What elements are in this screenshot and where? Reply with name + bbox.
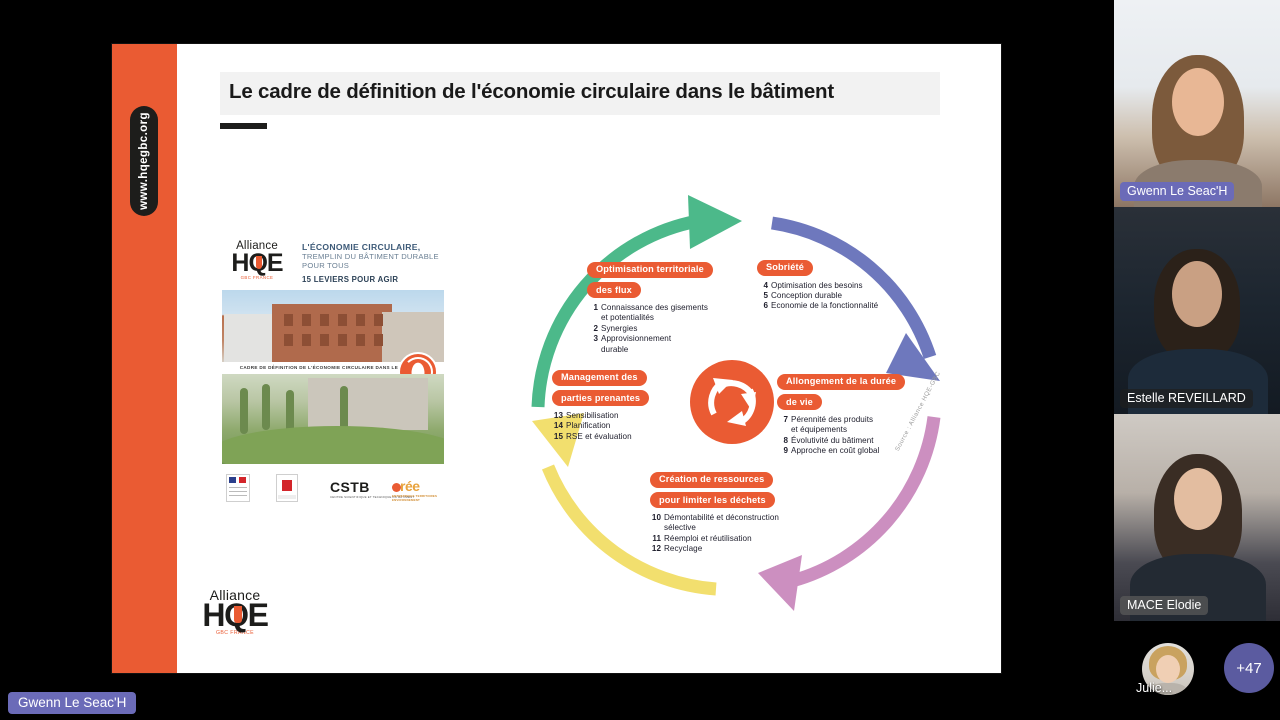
block-pill-line1: Allongement de la durée: [777, 374, 905, 390]
block-pill-line1: Management des: [552, 370, 647, 386]
list-item: 2Synergies: [587, 324, 767, 334]
item-continuation: et équipements: [791, 425, 962, 435]
item-number: 1: [587, 303, 598, 313]
video-tile-estelle[interactable]: Estelle REVEILLARD: [1114, 207, 1280, 414]
item-text: Évolutivité du bâtiment: [791, 436, 874, 446]
slide-title-band: Le cadre de définition de l'économie cir…: [220, 72, 940, 115]
block-pill-line1: Création de ressources: [650, 472, 773, 488]
photo-garden-lawn: [222, 426, 444, 464]
screen-share-stage: www.hqegbc.org Le cadre de définition de…: [0, 0, 1114, 720]
item-number: 14: [552, 421, 563, 431]
ademe-logo: [276, 474, 298, 502]
list-item: 4Optimisation des besoins: [757, 281, 937, 291]
list-item: 8Évolutivité du bâtiment: [777, 436, 962, 446]
circular-economy-diagram: Optimisation territoriale des flux 1Conn…: [502, 149, 972, 649]
center-recycling-badge: [690, 360, 774, 444]
video-tile-mace[interactable]: MACE Elodie: [1114, 414, 1280, 621]
list-item: 11Réemploi et réutilisation: [650, 534, 850, 544]
item-number: 6: [757, 301, 768, 311]
item-number: 5: [757, 291, 768, 301]
item-number: 2: [587, 324, 598, 334]
cover-header: Alliance HQE GBC FRANCE L'ÉCONOMIE CIRCU…: [220, 240, 448, 282]
partner-logos-row: CSTB CENTRE SCIENTIFIQUE ET TECHNIQUE DU…: [220, 472, 448, 504]
overflow-avatar-name: Julie...: [1136, 681, 1206, 695]
logo-hqe-text: HQE: [220, 252, 294, 275]
list-item: 10Démontabilité et déconstruction: [650, 513, 850, 523]
participant-rail: Gwenn Le Seac'H Estelle REVEILLARD MACE …: [1114, 0, 1280, 720]
participant-name: Gwenn Le Seac'H: [1120, 182, 1234, 201]
avatar-face: [1172, 261, 1222, 327]
block-sobriete: Sobriété 4Optimisation des besoins 5Conc…: [757, 257, 937, 312]
cstb-label: CSTB: [330, 479, 370, 495]
block-pill-line1: Optimisation territoriale: [587, 262, 713, 278]
item-text: Recyclage: [664, 544, 702, 554]
item-text: Approvisionnement: [601, 334, 671, 344]
block-pill-line1: Sobriété: [757, 260, 813, 276]
item-continuation: durable: [601, 345, 767, 355]
avatar-face: [1174, 468, 1222, 530]
participant-name: MACE Elodie: [1120, 596, 1208, 615]
item-text: Démontabilité et déconstruction: [664, 513, 779, 523]
item-text: Economie de la fonctionnalité: [771, 301, 878, 311]
item-text: Synergies: [601, 324, 637, 334]
overflow-participants: Julie... +47: [1114, 621, 1280, 720]
avatar-face: [1156, 655, 1180, 683]
cover-tagline-group: L'ÉCONOMIE CIRCULAIRE, TREMPLIN DU BÂTIM…: [302, 242, 448, 284]
oree-label: rée: [400, 478, 420, 494]
list-item: 7Pérennité des produits: [777, 415, 962, 425]
block-items: 1Connaissance des gisements et potential…: [587, 303, 767, 355]
item-number: 10: [650, 513, 661, 523]
photo-building-left: [224, 314, 274, 362]
item-text: Sensibilisation: [566, 411, 619, 421]
item-number: 13: [552, 411, 563, 421]
block-pill-line2: parties prenantes: [552, 390, 649, 406]
avatar-face: [1172, 68, 1224, 136]
item-text: Approche en coût global: [791, 446, 879, 456]
alliance-hqe-logo: Alliance HQE GBC FRANCE: [220, 240, 294, 281]
participant-name: Estelle REVEILLARD: [1120, 389, 1253, 408]
list-item: 1Connaissance des gisements: [587, 303, 767, 313]
block-items: 10Démontabilité et déconstruction sélect…: [650, 513, 850, 555]
item-number: 8: [777, 436, 788, 446]
list-item: 15RSE et évaluation: [552, 432, 702, 442]
block-items: 13Sensibilisation 14Planification 15RSE …: [552, 411, 702, 442]
recycling-icon: [690, 360, 774, 444]
block-items: 4Optimisation des besoins 5Conception du…: [757, 281, 937, 312]
book-cover-block: Alliance HQE GBC FRANCE L'ÉCONOMIE CIRCU…: [220, 240, 448, 540]
block-pill-line2: pour limiter les déchets: [650, 492, 775, 508]
block-management-parties-prenantes: Management des parties prenantes 13Sensi…: [552, 367, 702, 442]
list-item: 12Recyclage: [650, 544, 850, 554]
item-number: 9: [777, 446, 788, 456]
photo-building-main: [272, 304, 392, 362]
item-text: Planification: [566, 421, 610, 431]
item-number: 12: [650, 544, 661, 554]
block-items: 7Pérennité des produits et équipements 8…: [777, 415, 962, 457]
meeting-screen: www.hqegbc.org Le cadre de définition de…: [0, 0, 1280, 720]
item-number: 11: [650, 534, 661, 544]
cover-tagline: 15 LEVIERS POUR AGIR: [302, 275, 448, 284]
block-optimisation-territoriale: Optimisation territoriale des flux 1Conn…: [587, 259, 767, 355]
footer-logo-hqe: HQE: [192, 601, 278, 630]
list-item: 14Planification: [552, 421, 702, 431]
website-url-pill: www.hqegbc.org: [130, 106, 158, 216]
item-text: Conception durable: [771, 291, 842, 301]
cover-headline: L'ÉCONOMIE CIRCULAIRE,: [302, 242, 448, 252]
item-text: Pérennité des produits: [791, 415, 873, 425]
website-url-text: www.hqegbc.org: [138, 112, 150, 210]
presentation-slide: www.hqegbc.org Le cadre de définition de…: [112, 44, 1001, 673]
list-item: 13Sensibilisation: [552, 411, 702, 421]
footer-logo-drop-icon: [234, 606, 242, 623]
item-text: RSE et évaluation: [566, 432, 632, 442]
oree-logo: rée ENTREPRISES TERRITOIRES ENVIRONNEMEN…: [392, 478, 448, 502]
cover-subline: TREMPLIN DU BÂTIMENT DURABLE POUR TOUS: [302, 252, 448, 270]
list-item: 3Approvisionnement: [587, 334, 767, 344]
block-pill-line2: de vie: [777, 394, 822, 410]
block-creation-de-ressources: Création de ressources pour limiter les …: [650, 469, 850, 555]
photo-garden-building: [308, 378, 428, 430]
item-text: Connaissance des gisements: [601, 303, 708, 313]
slide-accent-bar: www.hqegbc.org: [112, 44, 177, 673]
oree-sublabel: ENTREPRISES TERRITOIRES ENVIRONNEMENT: [392, 494, 448, 502]
item-number: 4: [757, 281, 768, 291]
active-speaker-label: Gwenn Le Seac'H: [8, 692, 136, 714]
item-number: 15: [552, 432, 563, 442]
item-continuation: sélective: [664, 523, 850, 533]
slide-footer-logo: Alliance HQE GBC FRANCE: [192, 589, 278, 636]
item-number: 3: [587, 334, 598, 344]
item-continuation: et potentialités: [601, 313, 767, 323]
list-item: 9Approche en coût global: [777, 446, 962, 456]
list-item: 5Conception durable: [757, 291, 937, 301]
logo-drop-icon: [256, 256, 262, 269]
more-participants-badge[interactable]: +47: [1224, 643, 1274, 693]
video-tile-gwenn[interactable]: Gwenn Le Seac'H: [1114, 0, 1280, 207]
item-text: Réemploi et réutilisation: [664, 534, 752, 544]
block-pill-line2: des flux: [587, 282, 641, 298]
slide-title: Le cadre de définition de l'économie cir…: [229, 80, 834, 104]
cover-photo-garden: [222, 374, 444, 464]
republique-francaise-logo: [226, 474, 250, 502]
item-text: Optimisation des besoins: [771, 281, 863, 291]
cover-photo-building: [222, 290, 444, 362]
item-number: 7: [777, 415, 788, 425]
title-underline-rule: [220, 123, 267, 129]
list-item: 6Economie de la fonctionnalité: [757, 301, 937, 311]
